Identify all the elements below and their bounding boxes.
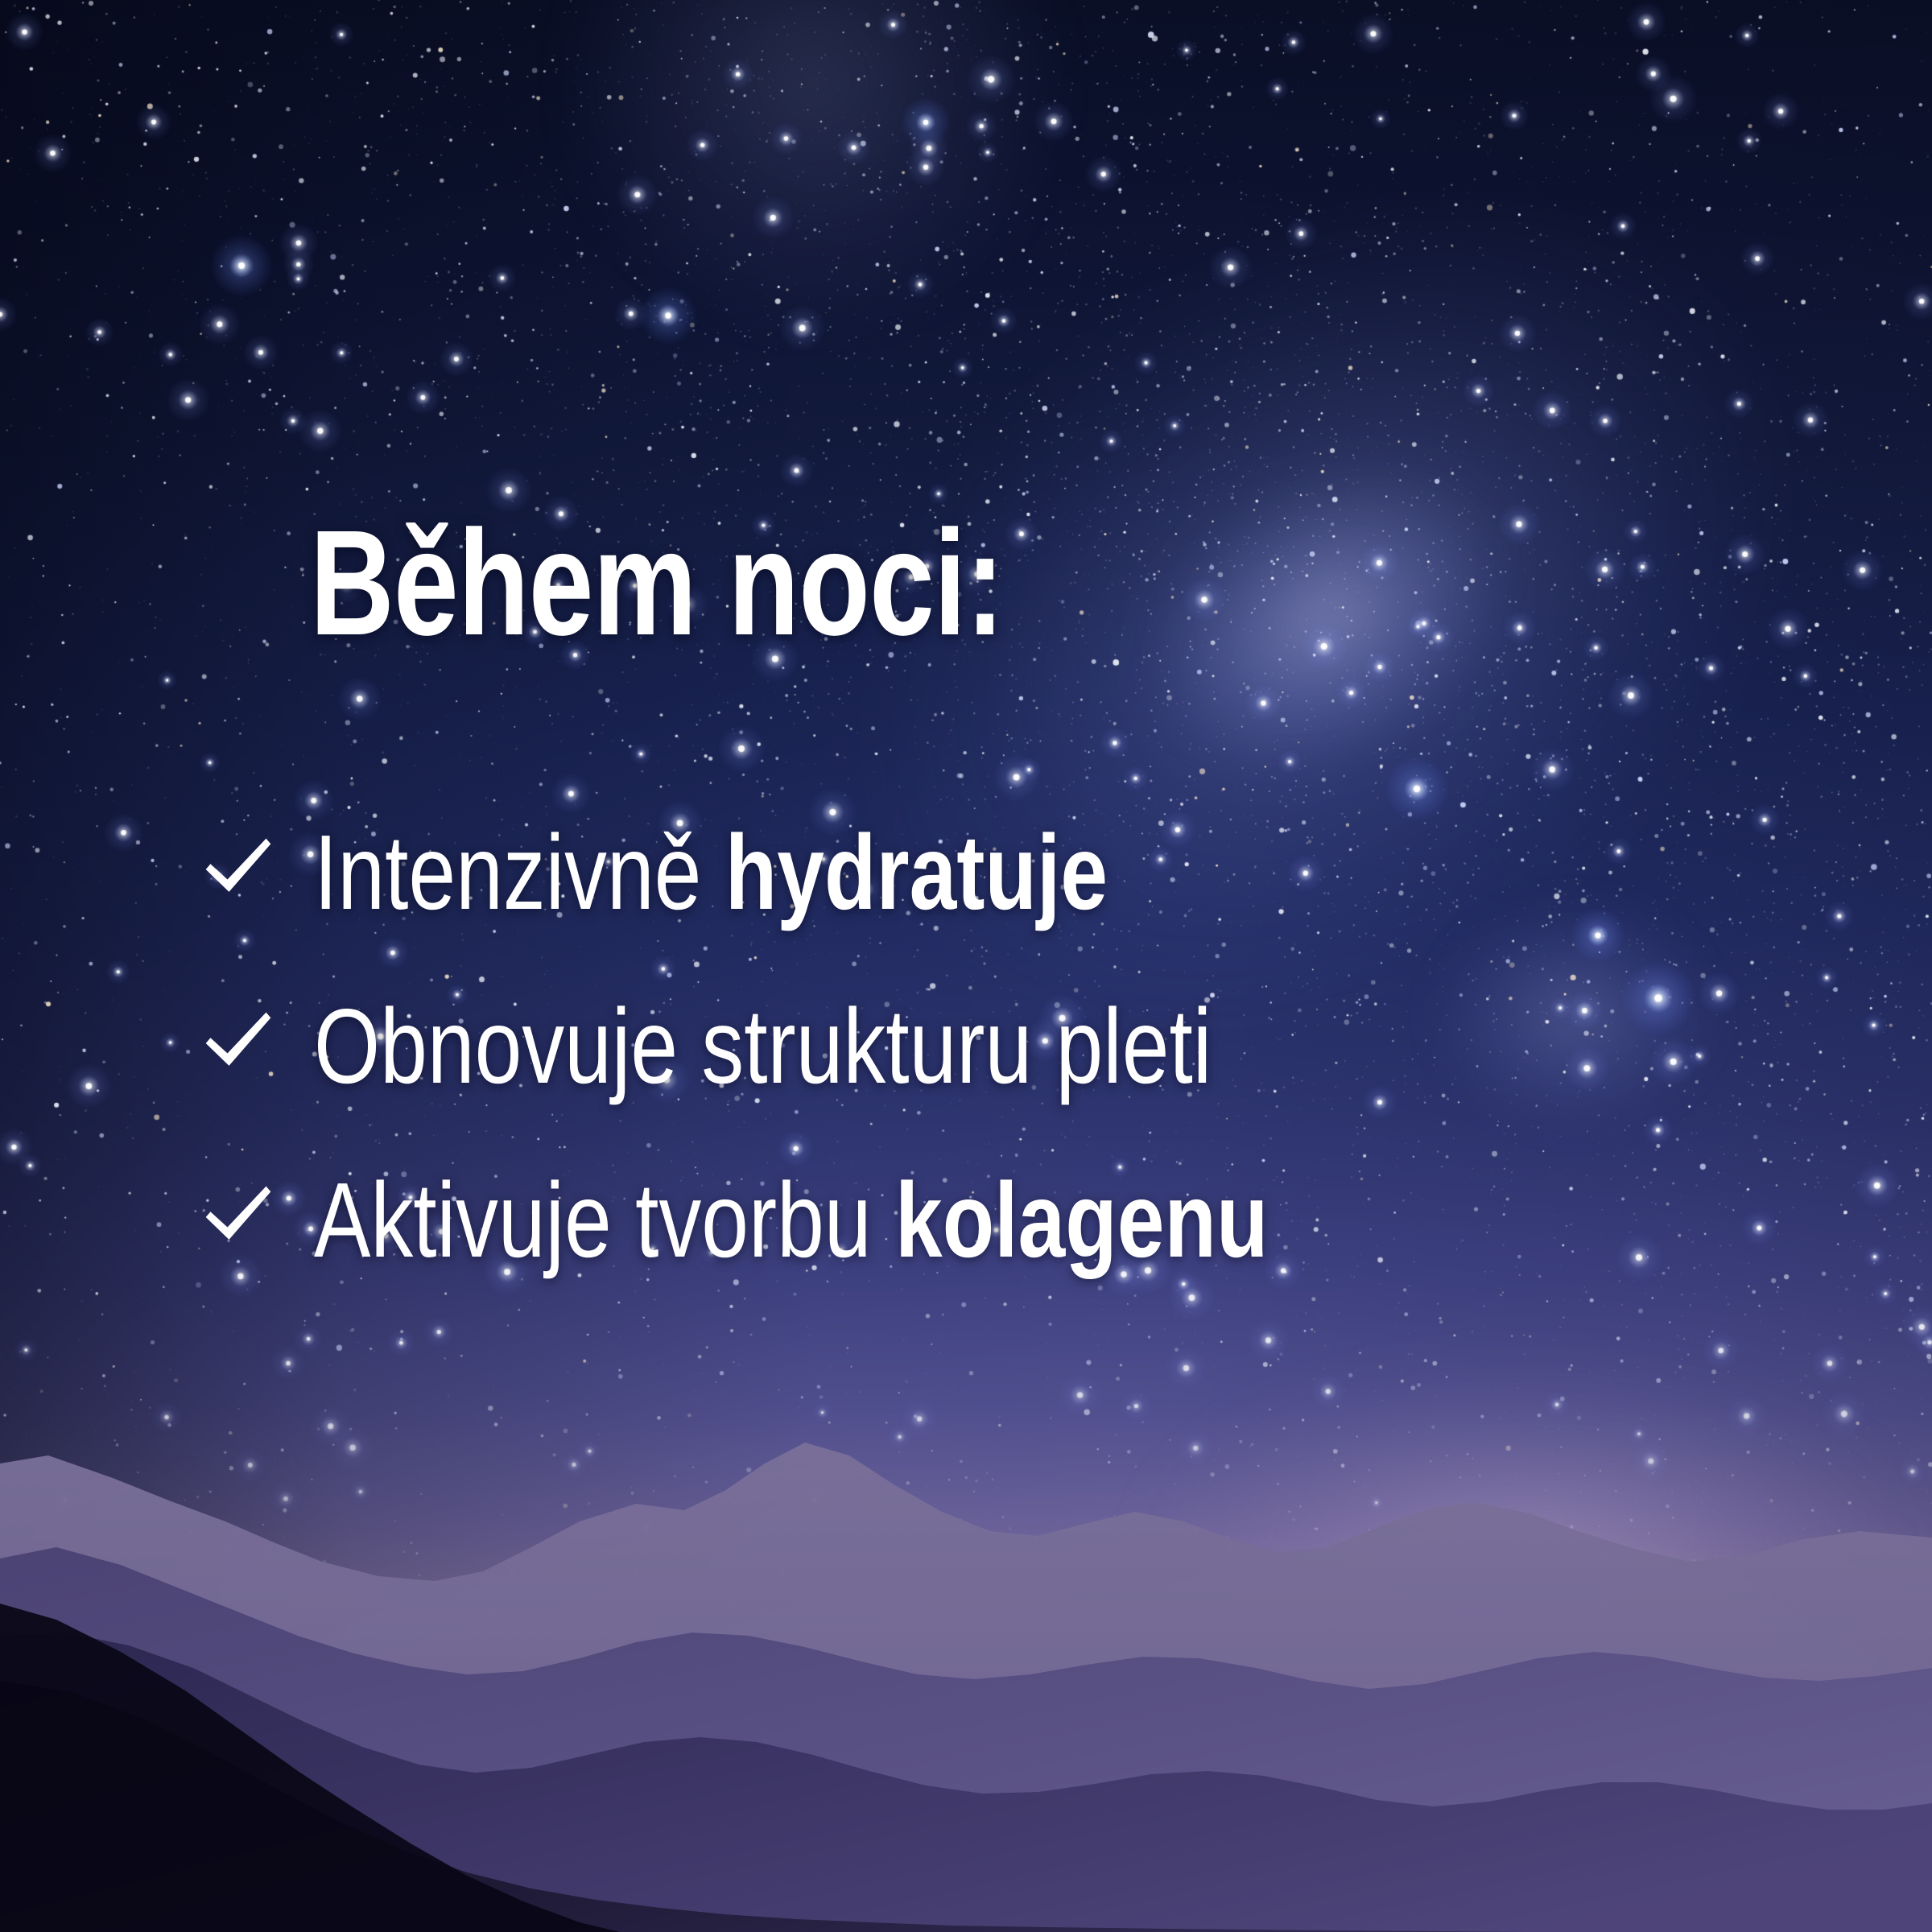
- benefit-text: Aktivuje tvorbu kolagenu: [314, 1167, 1268, 1274]
- list-item: Intenzivně hydratuje: [200, 819, 1810, 993]
- page-title: Během noci:: [310, 509, 1004, 658]
- checkmark-icon: [200, 831, 277, 908]
- poster-content: Během noci: Intenzivně hydratuje Obnovuj…: [0, 0, 1932, 1932]
- benefit-prefix: Aktivuje tvorbu: [314, 1161, 895, 1279]
- benefit-emphasis: kolagenu: [895, 1161, 1269, 1279]
- list-item: Obnovuje strukturu pleti: [200, 993, 1810, 1167]
- poster-canvas: Během noci: Intenzivně hydratuje Obnovuj…: [0, 0, 1932, 1932]
- benefit-prefix: Intenzivně: [314, 813, 725, 931]
- checkmark-icon: [200, 1005, 277, 1082]
- benefit-prefix: Obnovuje strukturu pleti: [314, 987, 1212, 1105]
- checkmark-icon: [200, 1179, 277, 1256]
- benefits-list: Intenzivně hydratuje Obnovuje strukturu …: [200, 819, 1810, 1341]
- benefit-text: Obnovuje strukturu pleti: [314, 993, 1212, 1100]
- benefit-emphasis: hydratuje: [725, 813, 1108, 931]
- benefit-text: Intenzivně hydratuje: [314, 819, 1108, 926]
- list-item: Aktivuje tvorbu kolagenu: [200, 1167, 1810, 1341]
